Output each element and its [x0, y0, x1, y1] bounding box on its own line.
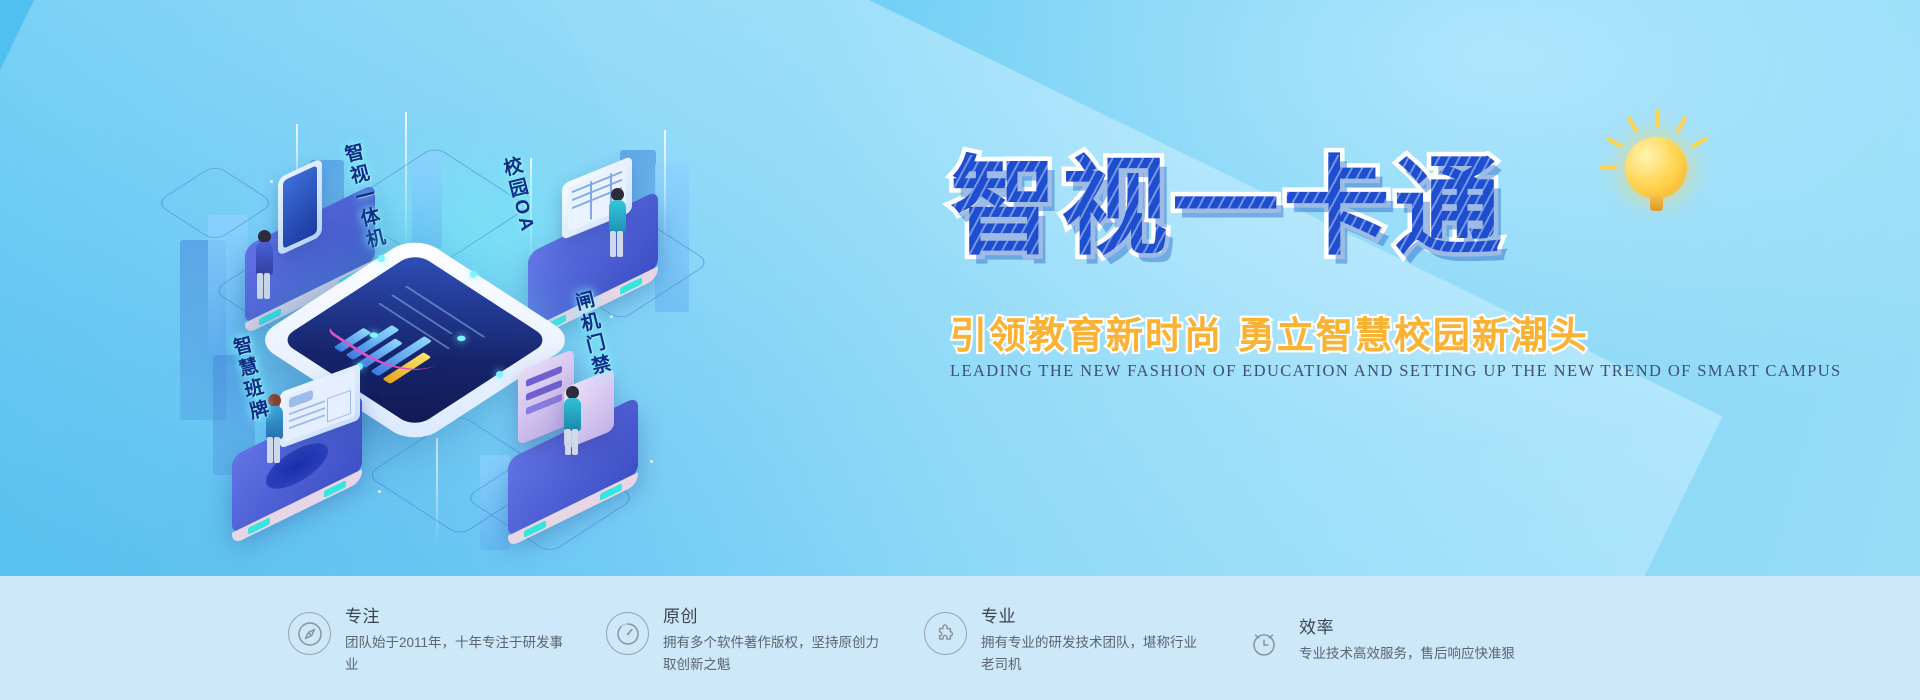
compass-icon: [288, 612, 331, 655]
sun-ray: [1691, 136, 1709, 148]
feature-texts: 效率 专业技术高效服务，售后响应快准狠: [1299, 611, 1515, 665]
person-leg: [617, 231, 623, 257]
feature-item-professional: 专业 拥有专业的研发技术团队，堪称行业老司机: [924, 600, 1242, 676]
person-body: [564, 398, 581, 431]
spark: [378, 255, 385, 262]
sun-ray: [1655, 109, 1659, 127]
person-leg: [267, 437, 273, 463]
feature-title: 专注: [345, 602, 573, 627]
subtitle-text: 引领教育新时尚 勇立智慧校园新潮头: [950, 305, 1589, 359]
feature-desc: 专业技术高效服务，售后响应快准狠: [1299, 643, 1515, 665]
feature-texts: 专业 拥有专业的研发技术团队，堪称行业老司机: [981, 600, 1209, 676]
person-leg: [274, 437, 280, 463]
spark: [650, 460, 653, 463]
feature-texts: 原创 拥有多个软件著作版权，坚持原创力取创新之魁: [663, 600, 891, 676]
person-body: [256, 242, 273, 275]
spark: [270, 180, 273, 183]
feature-desc: 团队始于2011年，十年专注于研发事业: [345, 632, 573, 676]
sun-ray: [1606, 136, 1624, 148]
person-leg: [257, 273, 263, 299]
feature-item-focus: 专注 团队始于2011年，十年专注于研发事业: [288, 600, 606, 676]
sun-ray: [1675, 116, 1687, 134]
person-leg: [610, 231, 616, 257]
puzzle-icon: [924, 612, 967, 655]
feature-title: 原创: [663, 602, 891, 627]
feature-title: 专业: [981, 602, 1209, 627]
spark: [496, 371, 503, 378]
hero-copy: 智视一卡通 智视一卡通 引领教育新时尚 勇立智慧校园新潮头 引领教育新时尚 勇立…: [950, 155, 1710, 381]
person-leg: [565, 429, 571, 455]
person-body: [609, 200, 626, 233]
headline-text: 智视一卡通: [950, 155, 1710, 262]
feature-desc: 拥有专业的研发技术团队，堪称行业老司机: [981, 632, 1209, 676]
spark: [610, 315, 613, 318]
person-leg: [264, 273, 270, 299]
feature-desc: 拥有多个软件著作版权，坚持原创力取创新之魁: [663, 632, 891, 676]
hero-banner: 智视一体机 校园OA: [0, 0, 1920, 700]
subtitle: 引领教育新时尚 勇立智慧校园新潮头 引领教育新时尚 勇立智慧校园新潮头: [950, 305, 1710, 353]
feature-item-efficiency: 效率 专业技术高效服务，售后响应快准狠: [1242, 611, 1560, 666]
person-leg: [572, 429, 578, 455]
feature-bar: 专注 团队始于2011年，十年专注于研发事业 原创 拥有多个软件著作版权，坚持原…: [0, 576, 1920, 700]
spark: [378, 490, 381, 493]
page-title: 智视一卡通 智视一卡通: [950, 155, 1710, 283]
feature-texts: 专注 团队始于2011年，十年专注于研发事业: [345, 600, 573, 676]
sun-ray: [1626, 116, 1638, 134]
device-screen: [283, 165, 317, 249]
isometric-illustration: 智视一体机 校园OA: [150, 60, 850, 570]
feature-title: 效率: [1299, 613, 1515, 638]
clock-icon: [1242, 623, 1285, 666]
feature-item-original: 原创 拥有多个软件著作版权，坚持原创力取创新之魁: [606, 600, 924, 676]
spark: [470, 271, 477, 278]
stopwatch-icon: [606, 612, 649, 655]
english-tagline: LEADING THE NEW FASHION OF EDUCATION AND…: [950, 361, 1710, 381]
